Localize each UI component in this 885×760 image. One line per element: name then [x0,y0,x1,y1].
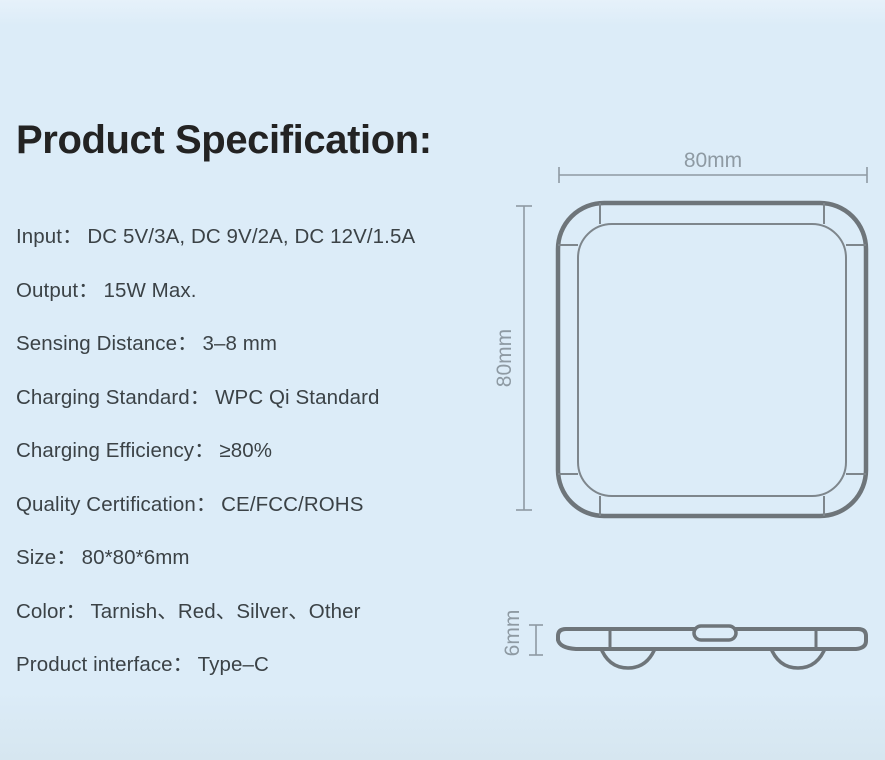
usb-type-c-port-icon [694,626,736,640]
charger-foot-left [600,646,656,668]
charger-outer-shell [558,203,866,516]
spec-row-size: Size： 80*80*6mm [16,531,516,585]
spec-row-sensing-distance: Sensing Distance： 3–8 mm [16,317,516,371]
wireless-charger-side-view [558,626,866,668]
width-dimension-label: 80mm [684,149,742,172]
charger-body-side [558,629,866,649]
spec-value: WPC Qi Standard [215,386,379,409]
spec-label: Sensing Distance [16,332,177,355]
spec-value: 3–8 mm [202,332,277,355]
charger-foot-right [770,646,826,668]
spec-row-charging-efficiency: Charging Efficiency： ≥80% [16,424,516,478]
spec-label: Size [16,546,56,569]
wireless-charger-top-view [558,203,866,516]
spec-value: CE/FCC/ROHS [221,493,363,516]
spec-value: Tarnish、Red、Silver、Other [90,600,360,623]
spec-row-input: Input： DC 5V/3A, DC 9V/2A, DC 12V/1.5A [16,210,516,264]
spec-separator: ： [194,439,214,462]
spec-value: 15W Max. [103,279,196,302]
spec-label: Output [16,279,78,302]
spec-separator: ： [62,225,82,248]
spec-row-quality-certification: Quality Certification： CE/FCC/ROHS [16,478,516,532]
spec-value: Type–C [198,653,269,676]
spec-separator: ： [196,493,216,516]
charger-inner-plate [578,224,846,496]
spec-separator: ： [56,546,76,569]
spec-separator: ： [177,332,197,355]
spec-label: Quality Certification [16,493,196,516]
spec-value: 80*80*6mm [82,546,190,569]
spec-separator: ： [190,386,210,409]
specification-panel: Product Specification: Input： DC 5V/3A, … [0,0,520,760]
spec-value: ≥80% [219,439,272,462]
width-dimension: 80mm [559,149,867,183]
specification-list: Input： DC 5V/3A, DC 9V/2A, DC 12V/1.5A O… [16,210,516,692]
spec-value: DC 5V/3A, DC 9V/2A, DC 12V/1.5A [87,225,415,248]
spec-row-charging-standard: Charging Standard： WPC Qi Standard [16,371,516,425]
spec-row-product-interface: Product interface： Type–C [16,638,516,692]
spec-label: Charging Standard [16,386,190,409]
product-specification-page: Product Specification: Input： DC 5V/3A, … [0,0,885,760]
spec-separator: ： [78,279,98,302]
spec-row-output: Output： 15W Max. [16,264,516,318]
spec-separator: ： [66,600,86,623]
spec-label: Charging Efficiency [16,439,194,462]
spec-separator: ： [173,653,193,676]
page-title: Product Specification: [16,118,432,163]
spec-row-color: Color： Tarnish、Red、Silver、Other [16,585,516,639]
spec-label: Input [16,225,62,248]
spec-label: Product interface [16,653,173,676]
spec-label: Color [16,600,66,623]
